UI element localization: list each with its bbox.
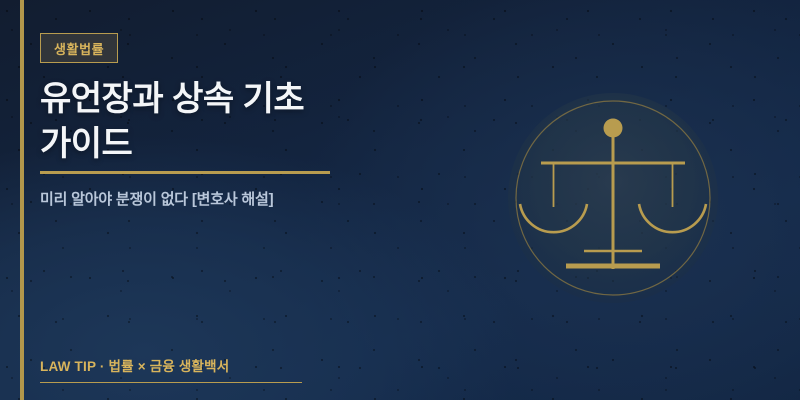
text-content-column: 생활법률 유언장과 상속 기초 가이드 미리 알아야 분쟁이 없다 [변호사 해… (40, 0, 460, 400)
scales-top-knob (604, 119, 623, 138)
thumbnail-card: 생활법률 유언장과 상속 기초 가이드 미리 알아야 분쟁이 없다 [변호사 해… (0, 0, 800, 400)
scales-of-justice-icon (508, 93, 718, 303)
footer-brand: LAW TIP · 법률 × 금융 생활백서 (40, 355, 302, 383)
title-divider (40, 171, 330, 174)
page-title: 유언장과 상속 기초 가이드 (40, 77, 440, 167)
left-gold-accent-bar (20, 0, 24, 400)
category-badge-label: 생활법률 (54, 39, 104, 58)
scales-of-justice-graphic (508, 93, 718, 303)
page-subtitle: 미리 알아야 분쟁이 없다 [변호사 해설] (40, 188, 273, 209)
category-badge: 생활법률 (40, 33, 118, 63)
